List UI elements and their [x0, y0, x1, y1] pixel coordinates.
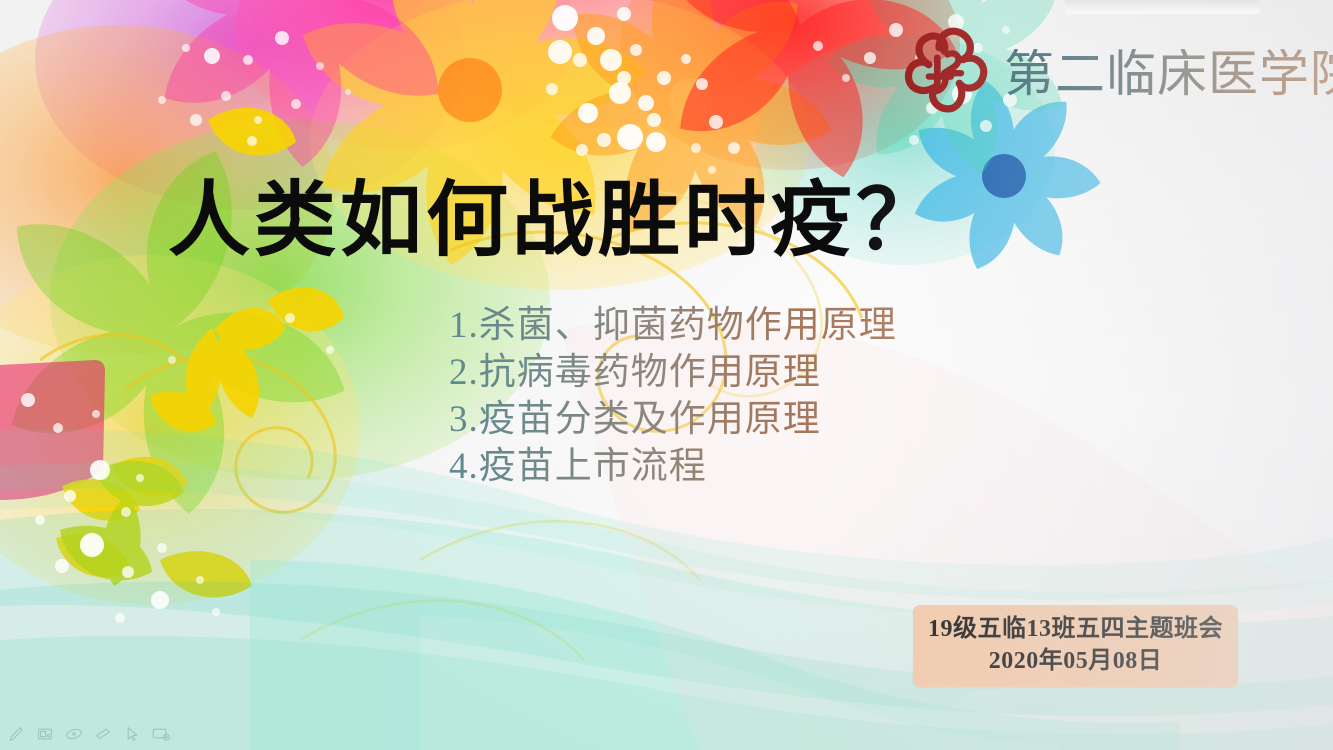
list-item: 2.抗病毒药物作用原理 — [449, 349, 897, 396]
presentation-float-toolbar[interactable] — [1065, 0, 1260, 14]
event-caption-box: 19级五临13班五四主题班会 2020年05月08日 — [913, 605, 1238, 687]
agenda-list: 1.杀菌、抑菌药物作用原理 2.抗病毒药物作用原理 3.疫苗分类及作用原理 4.… — [449, 302, 897, 490]
institution-name: 第二临床医学院 — [1004, 49, 1333, 99]
highlighter-icon[interactable] — [35, 724, 55, 744]
ellipse-icon[interactable] — [64, 724, 84, 744]
list-item: 3.疫苗分类及作用原理 — [449, 396, 897, 443]
annotation-toolbar[interactable] — [6, 724, 171, 744]
institution-logo-block: 第二临床医学院 — [888, 24, 1333, 124]
pinwheel-clover-logo-icon — [888, 24, 990, 124]
caption-line-date: 2020年05月08日 — [913, 645, 1238, 677]
caption-line-class: 19级五临13班五四主题班会 — [913, 613, 1238, 645]
pointer-icon[interactable] — [122, 724, 142, 744]
presentation-slide: 第二临床医学院 人类如何战胜时疫？ 1.杀菌、抑菌药物作用原理 2.抗病毒药物作… — [0, 0, 1333, 750]
eraser-icon[interactable] — [93, 724, 113, 744]
screen-share-icon[interactable] — [151, 724, 171, 744]
pen-icon[interactable] — [6, 724, 26, 744]
list-item: 4.疫苗上市流程 — [449, 443, 897, 490]
list-item: 1.杀菌、抑菌药物作用原理 — [449, 302, 897, 349]
page-title: 人类如何战胜时疫？ — [168, 178, 942, 264]
